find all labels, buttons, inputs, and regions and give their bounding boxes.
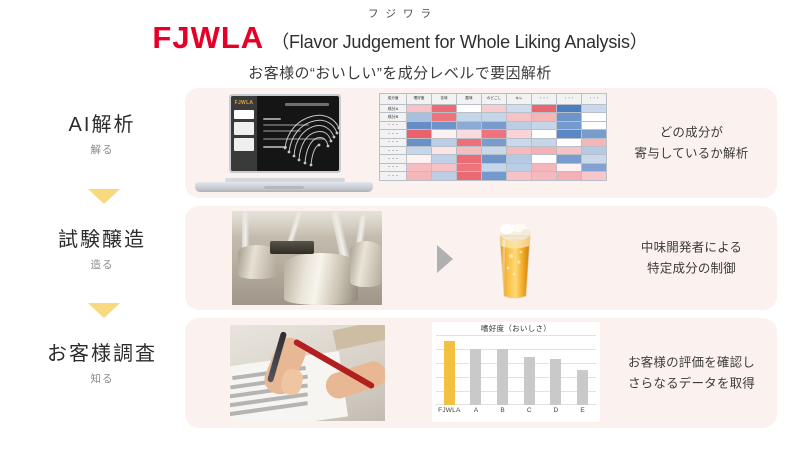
app-sidebar: FJWLA xyxy=(231,96,257,171)
chart-x-axis: FJWLAABCDE xyxy=(436,407,596,414)
chart-plot-area xyxy=(436,335,596,405)
heatmap-cell xyxy=(557,155,582,163)
heatmap-cell xyxy=(407,121,432,129)
heatmap-cell xyxy=(407,138,432,146)
heatmap-cell xyxy=(482,105,507,113)
stage-subtitle: 解る xyxy=(22,142,182,157)
heatmap-row: ・・・ xyxy=(380,138,607,146)
stage-label-survey: お客様調査 知る xyxy=(22,337,182,386)
process-arrow-icon xyxy=(437,245,453,273)
heatmap-col-header: 成分値 xyxy=(380,94,407,105)
heatmap-cell xyxy=(407,163,432,171)
heatmap-cell xyxy=(482,163,507,171)
page-subtitle: お客様の“おいしい”を成分レベルで要因解析 xyxy=(0,62,800,83)
heatmap-cell xyxy=(482,113,507,121)
title-block: フジワラ FJWLA （Flavor Judgement for Whole L… xyxy=(0,8,800,83)
rail-arrow-down-2 xyxy=(88,303,120,318)
heatmap-cell xyxy=(557,163,582,171)
heatmap-cell xyxy=(407,146,432,154)
preference-bar-chart: 嗜好度（おいしさ） FJWLAABCDE xyxy=(432,322,600,422)
heatmap-cell xyxy=(507,172,532,180)
heatmap-cell xyxy=(457,121,482,129)
chart-x-tick-label: A xyxy=(464,407,488,414)
stage-subtitle: 知る xyxy=(22,371,182,386)
note-line: お客様の評価を確認し xyxy=(599,352,784,373)
heatmap-cell xyxy=(557,172,582,180)
chart-bars xyxy=(436,335,596,405)
heatmap-cell xyxy=(482,146,507,154)
component-heatmap-table: 成分値嗜好度苦味酸味のどごしキレ・・・・・・・・・ 成分A成分B・・・・・・・・… xyxy=(379,93,607,181)
chart-bar xyxy=(470,349,481,405)
chart-bar xyxy=(577,370,588,405)
heatmap-cell xyxy=(432,172,457,180)
heatmap-cell xyxy=(407,105,432,113)
heatmap-row-label: ・・・ xyxy=(380,155,407,163)
stage-title: お客様調査 xyxy=(22,337,182,366)
rail-arrow-down-1 xyxy=(88,189,120,204)
stage-title: AI解析 xyxy=(22,108,182,137)
chart-x-tick-label: D xyxy=(544,407,568,414)
heatmap-col-header: ・・・ xyxy=(557,94,582,105)
panel-note-survey: お客様の評価を確認し さらなるデータを取得 xyxy=(599,352,784,393)
stage-label-brew: 試験醸造 造る xyxy=(22,223,182,272)
heatmap-row-label: ・・・ xyxy=(380,163,407,171)
heatmap-cell xyxy=(457,138,482,146)
heatmap-cell xyxy=(557,105,582,113)
heatmap-row-label: ・・・ xyxy=(380,130,407,138)
heatmap-row: ・・・ xyxy=(380,155,607,163)
heatmap-cell xyxy=(507,130,532,138)
heatmap-cell xyxy=(507,105,532,113)
chart-bar xyxy=(497,349,508,405)
laptop-screen: FJWLA xyxy=(231,96,339,171)
heatmap-cell xyxy=(432,130,457,138)
chart-x-tick-label: E xyxy=(571,407,595,414)
heatmap-cell xyxy=(532,172,557,180)
sidebar-card xyxy=(234,138,254,151)
heatmap-cell xyxy=(432,138,457,146)
heatmap-cell xyxy=(507,155,532,163)
heatmap-cell xyxy=(507,121,532,129)
stage-rail: AI解析 解る 試験醸造 造る お客様調査 知る xyxy=(22,96,182,426)
heatmap-row-label: ・・・ xyxy=(380,121,407,129)
brand-furigana: フジワラ xyxy=(0,8,800,21)
stage-title: 試験醸造 xyxy=(22,223,182,252)
heatmap-cell xyxy=(407,113,432,121)
heatmap-cell xyxy=(457,172,482,180)
heatmap-cell xyxy=(532,155,557,163)
heatmap-col-header: 苦味 xyxy=(432,94,457,105)
chart-x-tick-label: B xyxy=(491,407,515,414)
heatmap-cell xyxy=(532,138,557,146)
heatmap-cell xyxy=(557,130,582,138)
beer-glass-icon xyxy=(492,216,538,300)
heatmap-row-label: 成分A xyxy=(380,105,407,113)
heatmap-cell xyxy=(507,138,532,146)
heatmap-cell xyxy=(582,105,607,113)
heatmap-cell xyxy=(482,130,507,138)
heatmap-cell xyxy=(557,121,582,129)
heatmap-cell xyxy=(582,113,607,121)
heatmap-cell xyxy=(432,163,457,171)
heatmap-cell xyxy=(532,163,557,171)
heatmap-cell xyxy=(532,105,557,113)
brewery-photo xyxy=(232,211,382,305)
sidebar-card xyxy=(234,110,254,119)
chart-x-tick-label: FJWLA xyxy=(437,407,461,414)
heatmap-cell xyxy=(532,121,557,129)
heatmap-cell xyxy=(482,138,507,146)
heatmap-cell xyxy=(532,146,557,154)
survey-photo xyxy=(230,325,385,421)
chart-bar xyxy=(524,357,535,405)
heatmap-cell xyxy=(407,130,432,138)
heatmap-row-label: ・・・ xyxy=(380,146,407,154)
chart-bar xyxy=(550,359,561,405)
heatmap-row: ・・・ xyxy=(380,172,607,180)
heatmap-cell xyxy=(457,163,482,171)
heatmap-row-label: 成分B xyxy=(380,113,407,121)
heatmap-col-header: ・・・ xyxy=(582,94,607,105)
laptop-trackpad xyxy=(264,186,304,189)
chart-x-tick-label: C xyxy=(517,407,541,414)
heatmap-header-row: 成分値嗜好度苦味酸味のどごしキレ・・・・・・・・・ xyxy=(380,94,607,105)
heatmap-row: ・・・ xyxy=(380,121,607,129)
brand-expansion: （Flavor Judgement for Whole Liking Analy… xyxy=(271,33,647,52)
heatmap-col-header: 嗜好度 xyxy=(407,94,432,105)
app-text-line xyxy=(263,118,281,120)
heatmap-cell xyxy=(507,146,532,154)
heatmap-row: ・・・ xyxy=(380,146,607,154)
heatmap-row: 成分B xyxy=(380,113,607,121)
heatmap-cell xyxy=(432,113,457,121)
chart-bar xyxy=(444,341,455,405)
heatmap-col-header: キレ xyxy=(507,94,532,105)
circuit-fingerprint-icon xyxy=(281,102,339,168)
heatmap-row: ・・・ xyxy=(380,163,607,171)
heatmap-cell xyxy=(457,155,482,163)
heatmap-cell xyxy=(457,113,482,121)
note-line: どの成分が xyxy=(599,122,784,143)
stage-subtitle: 造る xyxy=(22,257,182,272)
heatmap-cell xyxy=(482,155,507,163)
heatmap-cell xyxy=(482,172,507,180)
heatmap-cell xyxy=(432,155,457,163)
heatmap-cell xyxy=(507,163,532,171)
laptop-lid: FJWLA xyxy=(229,94,341,173)
heatmap-cell xyxy=(557,146,582,154)
heatmap-cell xyxy=(532,113,557,121)
note-line: 中味開発者による xyxy=(599,237,784,258)
heatmap-cell xyxy=(407,155,432,163)
heatmap-col-header: ・・・ xyxy=(532,94,557,105)
heatmap-cell xyxy=(482,121,507,129)
app-main-area xyxy=(257,96,339,171)
panel-note-brewing: 中味開発者による 特定成分の制御 xyxy=(599,237,784,278)
stage-label-ai: AI解析 解る xyxy=(22,108,182,157)
panel-note-ai: どの成分が 寄与しているか解析 xyxy=(599,122,784,163)
heatmap-row-label: ・・・ xyxy=(380,172,407,180)
heatmap-cell xyxy=(457,130,482,138)
heatmap-cell xyxy=(582,172,607,180)
heatmap-col-header: のどごし xyxy=(482,94,507,105)
heatmap-row: ・・・ xyxy=(380,130,607,138)
title-row: FJWLA （Flavor Judgement for Whole Liking… xyxy=(0,22,800,55)
chart-title: 嗜好度（おいしさ） xyxy=(432,323,600,334)
app-logo: FJWLA xyxy=(234,100,254,106)
heatmap-cell xyxy=(432,146,457,154)
sidebar-card xyxy=(234,122,254,135)
heatmap-cell xyxy=(432,105,457,113)
note-line: 寄与しているか解析 xyxy=(599,143,784,164)
slide-root: フジワラ FJWLA （Flavor Judgement for Whole L… xyxy=(0,0,800,450)
heatmap-col-header: 酸味 xyxy=(457,94,482,105)
heatmap-cell xyxy=(457,105,482,113)
heatmap-cell xyxy=(557,138,582,146)
heatmap-row: 成分A xyxy=(380,105,607,113)
heatmap-cell xyxy=(507,113,532,121)
heatmap-cell xyxy=(407,172,432,180)
heatmap-cell xyxy=(582,163,607,171)
brand-name: FJWLA xyxy=(152,22,264,55)
heatmap-cell xyxy=(457,146,482,154)
note-line: さらなるデータを取得 xyxy=(599,373,784,394)
laptop-illustration: FJWLA xyxy=(195,92,373,194)
heatmap-cell xyxy=(432,121,457,129)
heatmap-row-label: ・・・ xyxy=(380,138,407,146)
heatmap-cell xyxy=(532,130,557,138)
heatmap-cell xyxy=(557,113,582,121)
note-line: 特定成分の制御 xyxy=(599,258,784,279)
